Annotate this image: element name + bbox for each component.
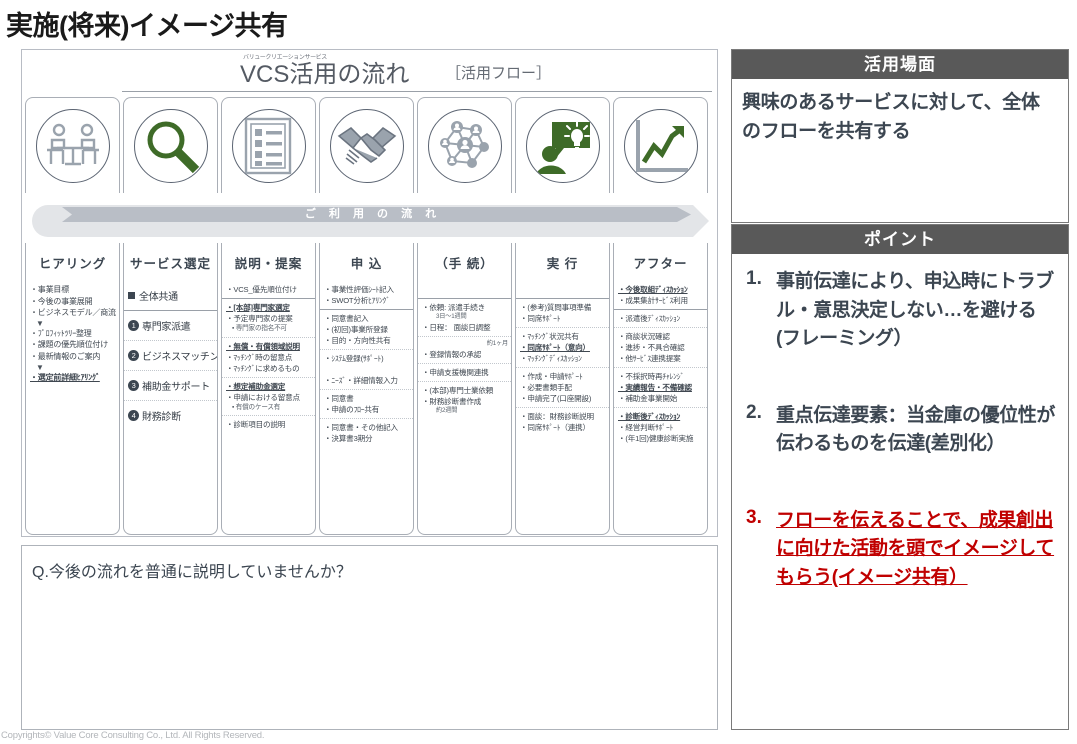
flow-list-item: ・事業性評価ｼｰﾄ記入: [324, 284, 410, 295]
flow-list-item: ・同意書記入: [324, 313, 410, 324]
flow-cell: ・事業性評価ｼｰﾄ記入・SWOT分析ﾋｱﾘﾝｸﾞ: [320, 281, 413, 309]
flow-column-3: 説明・提案・VCS_優先順位付け・[本部]専門家選定・予定専門家の提案▪ 専門家…: [221, 243, 316, 535]
flow-column-body: ・依頼: 派遣手続き3日～1週間・日程： 面談日調整約1ヶ月・登録情報の承認・申…: [418, 281, 511, 419]
header-divider: [122, 91, 712, 92]
flow-list-item: ・ﾏｯﾁﾝｸﾞに求めるもの: [226, 363, 312, 374]
flow-cell: ・不採択時再ﾁｬﾚﾝｼﾞ・実績報告・不備確認・補助金事業開始: [614, 367, 707, 407]
flow-cell: ・申請支援機関連携: [418, 363, 511, 381]
flow-list-item: ・ﾌﾟﾛﾌｨｯﾄﾂﾘｰ整理: [30, 328, 116, 340]
flow-list-item: ・進捗・不具合確認: [618, 342, 704, 353]
icon-cell-5: [417, 97, 512, 193]
flow-cell: 約1ヶ月・登録情報の承認: [418, 336, 511, 363]
flow-list-item: ・無償・有償領域説明: [226, 341, 312, 352]
flow-list-item: ▪ 専門家の指名不可: [226, 324, 312, 334]
flow-list-item: ・申請における留意点: [226, 392, 312, 403]
panel-points: ポイント 1.事前伝達により、申込時にトラブル・意思決定しない…を避ける(フレー…: [731, 224, 1069, 730]
slide-page: 実施(将来)イメージ共有 バリュークリエーションサービス VCS活用の流れ ［活…: [0, 0, 1077, 744]
vcs-subtitle: ［活用フロー］: [446, 62, 551, 83]
flow-cell: ・同意書・申請のﾌﾛｰ共有: [320, 389, 413, 418]
flow-list-item: ・同意書: [324, 393, 410, 404]
service-label: 専門家派遣: [142, 318, 191, 333]
flow-list-item: ・同席ｻﾎﾟｰﾄ（意向）: [520, 342, 606, 353]
question-text: Q.今後の流れを普通に説明していませんか？: [32, 558, 352, 582]
flow-cell: ・ｼｽﾃﾑ登録(ｻﾎﾟｰﾄ) ・ﾆｰｽﾞ・詳細情報入力: [320, 349, 413, 389]
flow-list-item: ・同席ｻﾎﾟｰﾄ: [520, 313, 606, 324]
magnifier-icon: [134, 109, 208, 183]
flow-column-body: 全体共通1専門家派遣2ビジネスマッチング3補助金サポート4財務診断: [124, 281, 217, 430]
flow-list-item: ・診断後ﾃﾞｨｽｶｯｼｮﾝ: [618, 411, 704, 422]
service-number-badge: 4: [128, 410, 139, 421]
flow-column-header: （手 続）: [418, 243, 511, 281]
flow-list-item: ・申請支援機関連携: [422, 367, 508, 378]
icon-cell-3: [221, 97, 316, 193]
flow-column-header: アフター: [614, 243, 707, 281]
flow-list-item: ・ｼｽﾃﾑ登録(ｻﾎﾟｰﾄ): [324, 353, 410, 364]
service-number-badge: 3: [128, 380, 139, 391]
flow-cell: ・事業目標・今後の事業展開・ビジネスモデル／商流▼・ﾌﾟﾛﾌｨｯﾄﾂﾘｰ整理・課…: [26, 281, 119, 386]
flow-list-item: ・予定専門家の提案: [226, 313, 312, 324]
flow-column-header: 実 行: [516, 243, 609, 281]
flow-list-item: ・目的・方向性共有: [324, 335, 410, 346]
flow-card-header: バリュークリエーションサービス VCS活用の流れ ［活用フロー］: [22, 50, 717, 98]
flow-list-item: ・VCS_優先順位付け: [226, 284, 312, 295]
flow-cell: ・派遣後ﾃﾞｨｽｶｯｼｮﾝ: [614, 309, 707, 327]
point-text: 事前伝達により、申込時にトラブル・意思決定しない…を避ける(フレーミング）: [776, 268, 1058, 354]
flow-cell: ・無償・有償領域説明・ﾏｯﾁﾝｸﾞ時の留意点・ﾏｯﾁﾝｸﾞに求めるもの: [222, 337, 315, 377]
flow-column-body: ・VCS_優先順位付け・[本部]専門家選定・予定専門家の提案▪ 専門家の指名不可…: [222, 281, 315, 433]
flow-column-body: ・今後取組ﾃﾞｨｽｶｯｼｮﾝ・成果集計ｻｰﾋﾞｽ利用・派遣後ﾃﾞｨｽｶｯｼｮﾝ・…: [614, 281, 707, 447]
flow-list-item: ・実績報告・不備確認: [618, 382, 704, 393]
flow-list-item: ・他ｻｰﾋﾞｽ連携提案: [618, 353, 704, 364]
flow-column-body: ・事業目標・今後の事業展開・ビジネスモデル／商流▼・ﾌﾟﾛﾌｨｯﾄﾂﾘｰ整理・課…: [26, 281, 119, 386]
service-item: 3補助金サポート: [126, 376, 215, 395]
duration-note: 約1ヶ月: [422, 340, 508, 349]
flow-cell: ・(参考)質問事項準備・同席ｻﾎﾟｰﾄ: [516, 298, 609, 327]
flow-list-item: ・最新情報のご案内: [30, 351, 116, 363]
icon-cell-7: [613, 97, 708, 193]
point-number: 2.: [740, 402, 776, 459]
flow-cell: ・依頼: 派遣手続き3日～1週間・日程： 面談日調整: [418, 298, 511, 336]
service-number-badge: 2: [128, 350, 139, 361]
flow-cell: ・商談状況確認・進捗・不具合確認・他ｻｰﾋﾞｽ連携提案: [614, 327, 707, 367]
square-bullet-icon: [128, 292, 135, 299]
flow-table: ヒアリング・事業目標・今後の事業展開・ビジネスモデル／商流▼・ﾌﾟﾛﾌｨｯﾄﾂﾘ…: [22, 243, 719, 537]
flow-cell: [516, 281, 609, 298]
flow-list-item: ・ﾏｯﾁﾝｸﾞﾃﾞｨｽｶｯｼｮﾝ: [520, 353, 606, 364]
flow-list-item: ・(参考)質問事項準備: [520, 302, 606, 313]
flow-list-item: ・[本部]専門家選定: [226, 302, 312, 313]
flow-list-item: ・想定補助金選定: [226, 381, 312, 392]
flow-column-6: 実 行 ・(参考)質問事項準備・同席ｻﾎﾟｰﾄ・ﾏｯﾁﾝｸﾞ状況共有・同席ｻﾎﾟ…: [515, 243, 610, 535]
flow-list-item: ・SWOT分析ﾋｱﾘﾝｸﾞ: [324, 295, 410, 306]
usage-scene-text: 興味のあるサービスに対して、全体のフローを共有する: [742, 88, 1058, 147]
flow-column-header: 申 込: [320, 243, 413, 281]
flow-cell: ・(本部)専門士業依頼・財務診断書作成約2週間: [418, 381, 511, 419]
panel-points-header: ポイント: [732, 225, 1068, 254]
point-item-2: 2.重点伝達要素：当金庫の優位性が伝わるものを伝達(差別化）: [740, 402, 1058, 459]
down-arrow-icon: ▼: [30, 363, 116, 372]
flow-column-5: （手 続） ・依頼: 派遣手続き3日～1週間・日程： 面談日調整約1ヶ月・登録情…: [417, 243, 512, 535]
flow-list-item: ・課題の優先順位付け: [30, 339, 116, 351]
service-label: 補助金サポート: [142, 378, 210, 393]
icon-cell-4: [319, 97, 414, 193]
flow-cell: 全体共通: [124, 281, 217, 310]
question-box: Q.今後の流れを普通に説明していませんか？: [21, 545, 718, 730]
flow-list-item: ・診断項目の説明: [226, 419, 312, 430]
flow-list-item: ▪ 有償のケース有: [226, 403, 312, 413]
flow-cell: ・ﾏｯﾁﾝｸﾞ状況共有・同席ｻﾎﾟｰﾄ（意向）・ﾏｯﾁﾝｸﾞﾃﾞｨｽｶｯｼｮﾝ: [516, 327, 609, 367]
icon-cell-6: [515, 97, 610, 193]
flow-list-item: ・(本部)専門士業依頼: [422, 385, 508, 396]
flow-column-7: アフター・今後取組ﾃﾞｨｽｶｯｼｮﾝ・成果集計ｻｰﾋﾞｽ利用・派遣後ﾃﾞｨｽｶｯ…: [613, 243, 708, 535]
flow-list-item: ・商談状況確認: [618, 331, 704, 342]
flow-list-item: ・依頼: 派遣手続き: [422, 302, 508, 313]
flow-list-item: [422, 284, 508, 295]
speech-bulb-icon: [526, 109, 600, 183]
flow-list-item: ・ビジネスモデル／商流: [30, 307, 116, 319]
flow-list-item: ・今後の事業展開: [30, 296, 116, 308]
flow-list-item: [324, 364, 410, 375]
panel-usage-scene: 活用場面 興味のあるサービスに対して、全体のフローを共有する: [731, 49, 1069, 223]
page-title: 実施(将来)イメージ共有: [6, 4, 287, 43]
flow-cell: ・今後取組ﾃﾞｨｽｶｯｼｮﾝ・成果集計ｻｰﾋﾞｽ利用: [614, 281, 707, 309]
point-text: 重点伝達要素：当金庫の優位性が伝わるものを伝達(差別化）: [776, 402, 1058, 459]
flow-cell: [418, 281, 511, 298]
flow-list-item: ・成果集計ｻｰﾋﾞｽ利用: [618, 295, 704, 306]
flow-cell: ・VCS_優先順位付け: [222, 281, 315, 298]
flow-column-header: ヒアリング: [26, 243, 119, 281]
duration-note: 約2週間: [422, 407, 508, 416]
flow-cell: 2ビジネスマッチング: [124, 340, 217, 370]
flow-column-header: サービス選定: [124, 243, 217, 281]
flow-list-item: ・ﾆｰｽﾞ・詳細情報入力: [324, 375, 410, 386]
flow-cell: ・同意書・その他記入・決算書3期分: [320, 418, 413, 447]
flow-cell: ・診断項目の説明: [222, 415, 315, 433]
flow-column-header: 説明・提案: [222, 243, 315, 281]
panel-usage-scene-body: 興味のあるサービスに対して、全体のフローを共有する: [732, 79, 1068, 222]
flow-list-item: ・今後取組ﾃﾞｨｽｶｯｼｮﾝ: [618, 284, 704, 295]
flow-list-item: ・経営判断ｻﾎﾟｰﾄ: [618, 422, 704, 433]
flow-list-item: ・同意書・その他記入: [324, 422, 410, 433]
icon-row: [22, 97, 719, 195]
flow-list-item: ・登録情報の承認: [422, 349, 508, 360]
service-item: 1専門家派遣: [126, 316, 215, 335]
service-label: 財務診断: [142, 408, 181, 423]
flow-list-item: ・申請のﾌﾛｰ共有: [324, 404, 410, 415]
vcs-flow-card: バリュークリエーションサービス VCS活用の流れ ［活用フロー］: [21, 49, 718, 537]
service-number-badge: 1: [128, 320, 139, 331]
flow-cell: ・診断後ﾃﾞｨｽｶｯｼｮﾝ・経営判断ｻﾎﾟｰﾄ・(年1回)健康診断実施: [614, 407, 707, 447]
usage-flow-band: ご 利 用 の 流 れ: [32, 205, 709, 237]
panel-points-body: 1.事前伝達により、申込時にトラブル・意思決定しない…を避ける(フレーミング）2…: [732, 254, 1068, 729]
point-item-3: 3.フローを伝えることで、成果創出に向けた活動を頭でイメージしてもらう(イメージ…: [740, 507, 1058, 593]
copyright-footer: Copyrights© Value Core Consulting Co., L…: [1, 730, 264, 741]
flow-list-item: ・作成・申請ｻﾎﾟｰﾄ: [520, 371, 606, 382]
handshake-icon: [330, 109, 404, 183]
flow-cell: ・[本部]専門家選定・予定専門家の提案▪ 専門家の指名不可: [222, 298, 315, 337]
checklist-icon: [232, 109, 306, 183]
vcs-title: VCS活用の流れ: [240, 54, 409, 89]
point-text: フローを伝えることで、成果創出に向けた活動を頭でイメージしてもらう(イメージ共有…: [776, 507, 1058, 593]
flow-list-item: ・選定前詳細ﾋｱﾘﾝｸﾞ: [30, 372, 116, 384]
flow-cell: 4財務診断: [124, 400, 217, 430]
network-icon: [428, 109, 502, 183]
flow-list-item: [520, 284, 606, 295]
service-item: 2ビジネスマッチング: [126, 346, 215, 365]
flow-cell: ・作成・申請ｻﾎﾟｰﾄ・必要書類手配・申請完了(口座開設): [516, 367, 609, 407]
flow-column-body: ・事業性評価ｼｰﾄ記入・SWOT分析ﾋｱﾘﾝｸﾞ・同意書記入・(初回)事業所登録…: [320, 281, 413, 447]
flow-column-2: サービス選定全体共通1専門家派遣2ビジネスマッチング3補助金サポート4財務診断: [123, 243, 218, 535]
flow-list-item: ・ﾏｯﾁﾝｸﾞ状況共有: [520, 331, 606, 342]
flow-list-item: ・(初回)事業所登録: [324, 324, 410, 335]
flow-cell: ・想定補助金選定・申請における留意点▪ 有償のケース有: [222, 377, 315, 416]
flow-list-item: ・申請完了(口座開設): [520, 393, 606, 404]
down-arrow-icon: ▼: [30, 319, 116, 328]
point-number: 3.: [740, 507, 776, 593]
flow-cell: ・同意書記入・(初回)事業所登録・目的・方向性共有: [320, 309, 413, 349]
flow-list-item: ・(年1回)健康診断実施: [618, 433, 704, 444]
icon-cell-1: [25, 97, 120, 193]
flow-column-4: 申 込・事業性評価ｼｰﾄ記入・SWOT分析ﾋｱﾘﾝｸﾞ・同意書記入・(初回)事業…: [319, 243, 414, 535]
flow-cell: ・面談：財務診断説明・同席ｻﾎﾟｰﾄ（連携）: [516, 407, 609, 436]
flow-cell: 1専門家派遣: [124, 310, 217, 340]
icon-cell-2: [123, 97, 218, 193]
flow-list-item: ・財務診断書作成: [422, 396, 508, 407]
point-number: 1.: [740, 268, 776, 354]
flow-list-item: ・事業目標: [30, 284, 116, 296]
flow-band-label: ご 利 用 の 流 れ: [32, 205, 709, 223]
service-item-common: 全体共通: [126, 286, 215, 305]
growth-chart-icon: [624, 109, 698, 183]
flow-list-item: ・補助金事業開始: [618, 393, 704, 404]
flow-list-item: ・派遣後ﾃﾞｨｽｶｯｼｮﾝ: [618, 313, 704, 324]
flow-list-item: ・決算書3期分: [324, 433, 410, 444]
flow-cell: 3補助金サポート: [124, 370, 217, 400]
flow-list-item: ・不採択時再ﾁｬﾚﾝｼﾞ: [618, 371, 704, 382]
flow-column-1: ヒアリング・事業目標・今後の事業展開・ビジネスモデル／商流▼・ﾌﾟﾛﾌｨｯﾄﾂﾘ…: [25, 243, 120, 535]
flow-list-item: ・ﾏｯﾁﾝｸﾞ時の留意点: [226, 352, 312, 363]
service-label: ビジネスマッチング: [142, 348, 218, 363]
flow-list-item: ・同席ｻﾎﾟｰﾄ（連携）: [520, 422, 606, 433]
point-item-1: 1.事前伝達により、申込時にトラブル・意思決定しない…を避ける(フレーミング）: [740, 268, 1058, 354]
meeting-icon: [36, 109, 110, 183]
duration-note: 3日～1週間: [422, 313, 508, 322]
panel-usage-scene-header: 活用場面: [732, 50, 1068, 79]
flow-list-item: ・面談：財務診断説明: [520, 411, 606, 422]
flow-list-item: ・必要書類手配: [520, 382, 606, 393]
flow-list-item: ・日程： 面談日調整: [422, 322, 508, 333]
flow-column-body: ・(参考)質問事項準備・同席ｻﾎﾟｰﾄ・ﾏｯﾁﾝｸﾞ状況共有・同席ｻﾎﾟｰﾄ（意…: [516, 281, 609, 436]
service-label: 全体共通: [139, 288, 178, 303]
service-item: 4財務診断: [126, 406, 215, 425]
